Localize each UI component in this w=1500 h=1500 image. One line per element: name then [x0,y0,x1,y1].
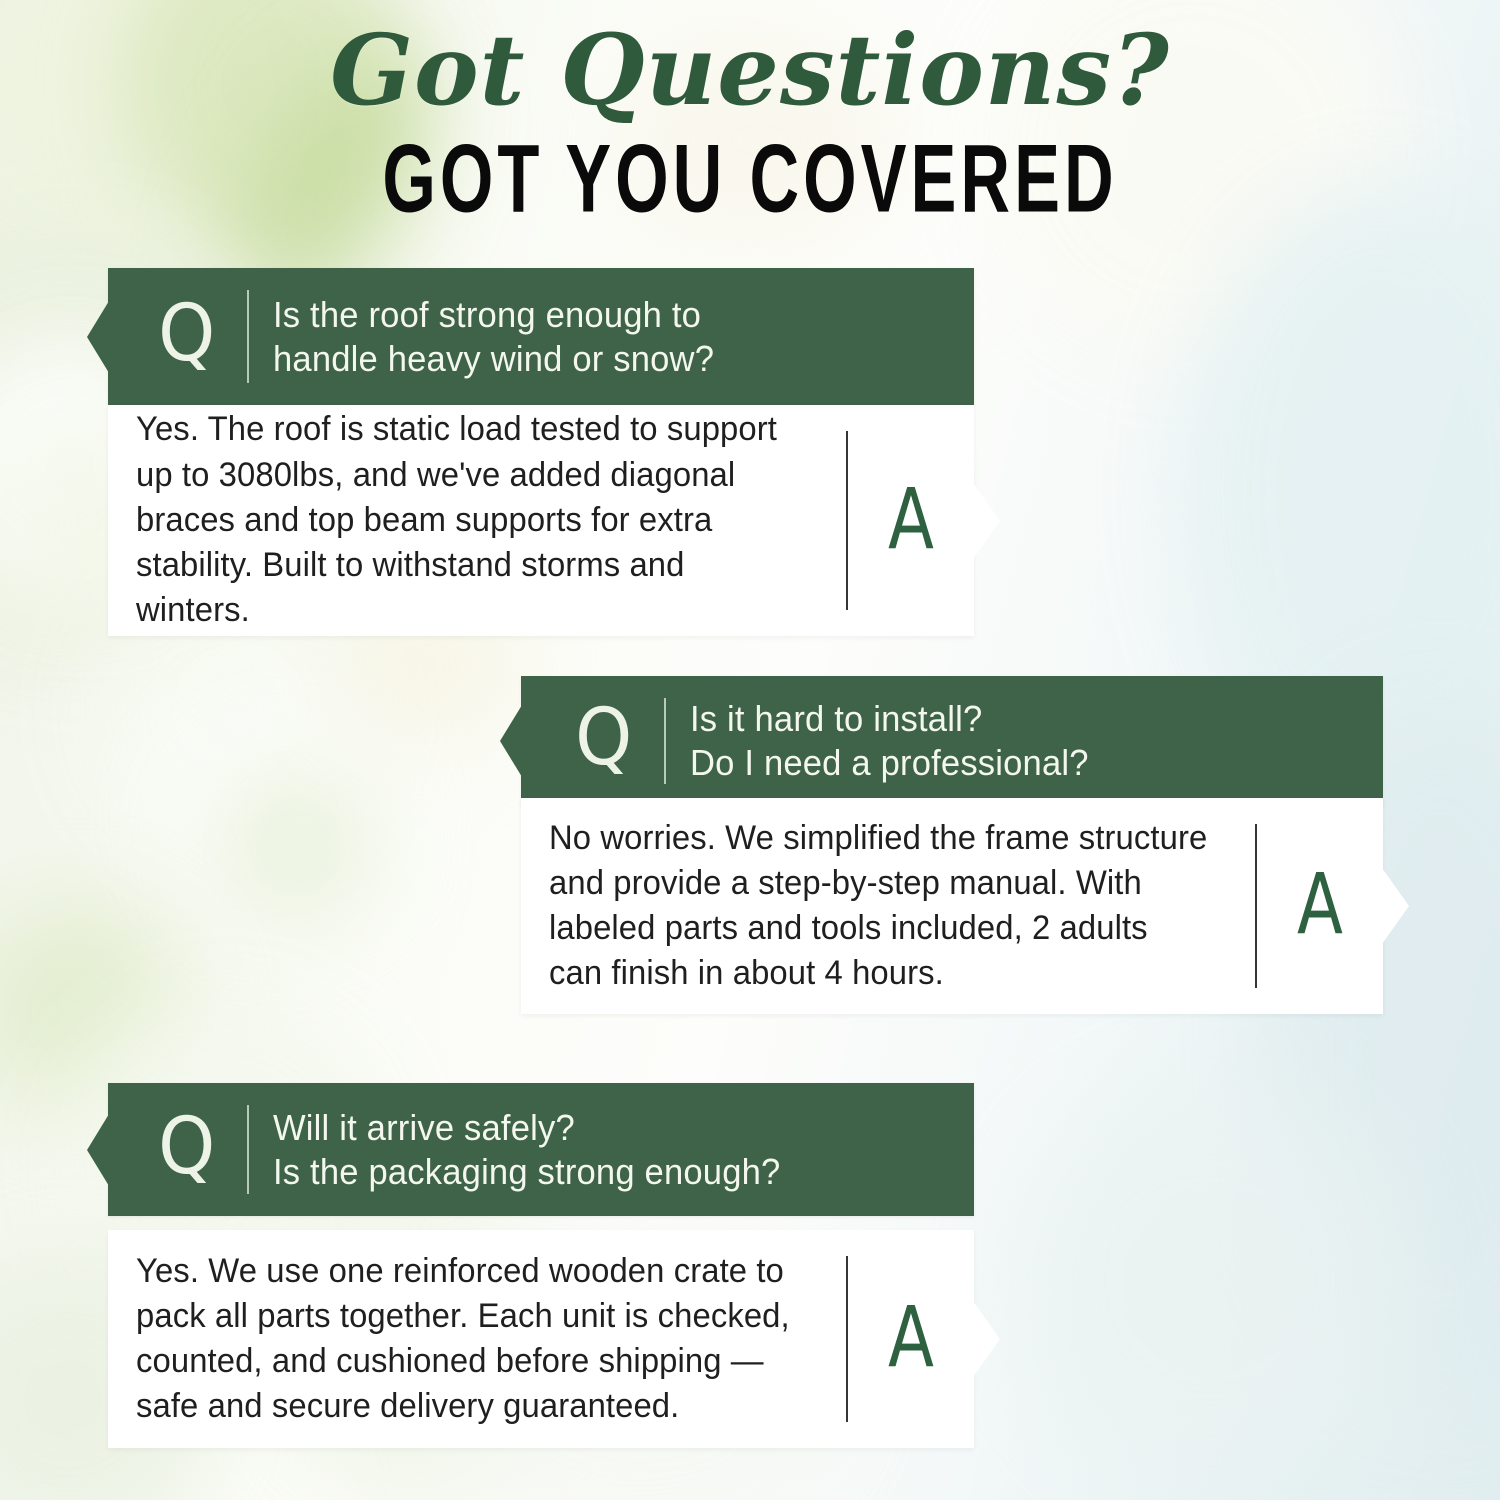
faq-question-bar[interactable]: Q Is it hard to install? Do I need a pro… [521,676,1383,806]
faq-question-text: Is it hard to install? Do I need a profe… [690,697,1089,785]
faq-answer-text: Yes. The roof is static load tested to s… [136,407,821,633]
question-marker-icon: Q [158,295,215,379]
question-divider [247,290,249,383]
answer-divider [1255,824,1257,988]
faq-answer-text: Yes. We use one reinforced wooden crate … [136,1249,821,1430]
faq-question-text: Will it arrive safely? Is the packaging … [273,1106,780,1194]
question-divider [247,1105,249,1194]
faq-item[interactable]: Q Is it hard to install? Do I need a pro… [521,676,1383,1022]
page-header: Got Questions? GOT YOU COVERED [0,0,1500,217]
answer-marker-icon: A [1270,862,1371,950]
faq-question-bar[interactable]: Q Is the roof strong enough to handle he… [108,268,974,405]
page-title-main: GOT YOU COVERED [150,131,1350,227]
answer-marker-icon: A [861,477,962,565]
question-marker-icon: Q [575,699,632,783]
page-title-script: Got Questions? [0,0,1500,119]
faq-question-bar[interactable]: Q Will it arrive safely? Is the packagin… [108,1083,974,1216]
faq-answer-panel: Yes. The roof is static load tested to s… [108,405,974,636]
faq-answer-text: No worries. We simplified the frame stru… [549,816,1230,997]
answer-marker-icon: A [861,1295,962,1383]
answer-divider [846,431,848,610]
faq-answer-panel: Yes. We use one reinforced wooden crate … [108,1230,974,1448]
faq-question-text: Is the roof strong enough to handle heav… [273,293,714,381]
faq-item[interactable]: Q Will it arrive safely? Is the packagin… [108,1083,974,1434]
question-divider [664,698,666,784]
faq-answer-panel: No worries. We simplified the frame stru… [521,798,1383,1014]
faq-item[interactable]: Q Is the roof strong enough to handle he… [108,268,974,636]
answer-divider [846,1256,848,1422]
question-marker-icon: Q [158,1108,215,1192]
